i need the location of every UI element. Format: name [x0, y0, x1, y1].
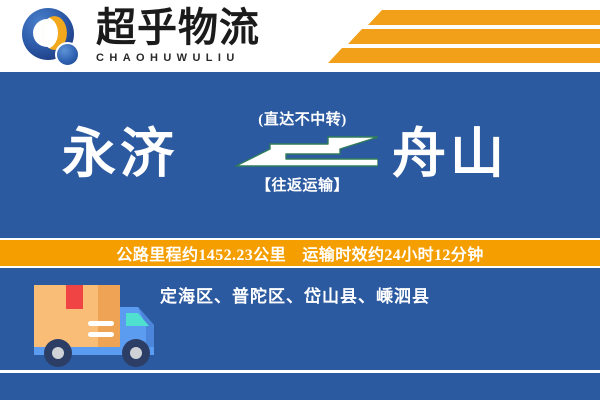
origin-city: 永济	[62, 127, 178, 181]
double-headed-arrow-icon	[228, 135, 378, 169]
route-info-text: 公路里程约1452.23公里 运输时效约24小时12分钟	[116, 241, 483, 265]
stripe-3	[328, 48, 600, 63]
route-band: 永济 (直达不中转) 【往返运输】 舟山	[0, 72, 600, 236]
company-name-en: CHAOHUWULIU	[96, 51, 276, 65]
route-middle-block: (直达不中转) 【往返运输】	[225, 108, 380, 195]
truck-svg	[26, 279, 166, 372]
logo-small-dot-icon	[55, 42, 80, 67]
speed-stripes-icon	[300, 8, 600, 68]
stripe-2	[348, 29, 600, 44]
delivery-truck-icon	[26, 279, 166, 372]
arrow-svg	[228, 135, 378, 169]
coverage-districts: 定海区、普陀区、岱山县、嵊泗县	[160, 282, 430, 307]
company-logo-icon	[22, 8, 80, 66]
route-note-direct: (直达不中转)	[225, 108, 380, 129]
banner-header: 超乎物流 CHAOHUWULIU	[0, 0, 600, 72]
logistics-route-banner: 超乎物流 CHAOHUWULIU 永济 (直达不中转) 【往返运输】 舟山 公路…	[0, 0, 600, 400]
company-name-block: 超乎物流 CHAOHUWULIU	[96, 6, 276, 65]
route-info-bar: 公路里程约1452.23公里 运输时效约24小时12分钟	[0, 238, 600, 268]
stripe-1	[368, 10, 600, 25]
destination-city: 舟山	[392, 127, 508, 181]
route-note-roundtrip: 【往返运输】	[225, 174, 380, 195]
company-name-cn: 超乎物流	[96, 6, 276, 50]
